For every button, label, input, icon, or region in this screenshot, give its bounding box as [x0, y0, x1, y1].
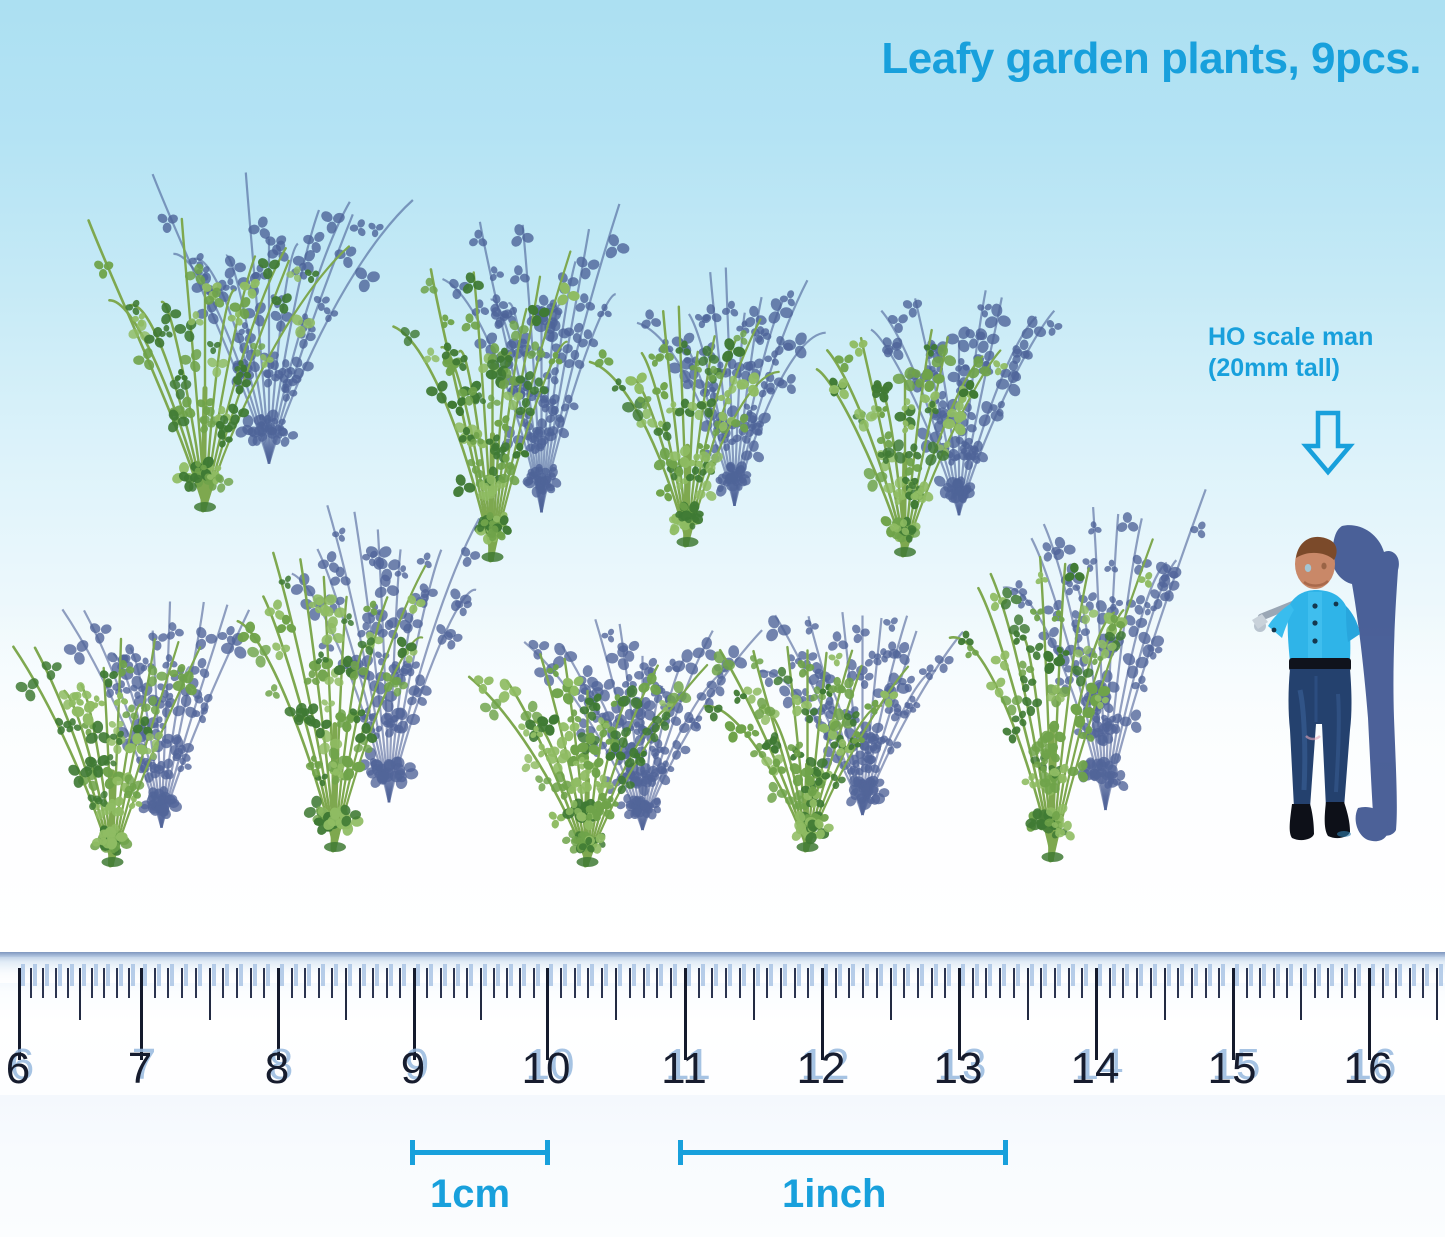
scale-callout-line1: HO scale man — [1208, 323, 1373, 351]
scale-bar-line — [410, 1150, 550, 1155]
ruler-tick-mm — [1122, 968, 1124, 998]
ruler-tick-highlight — [212, 964, 216, 986]
ruler-tick-highlight — [1412, 964, 1416, 986]
ruler-tick-mm — [399, 968, 401, 998]
plant-bottom-2 — [230, 520, 440, 850]
ruler-tick-highlight — [1180, 964, 1184, 986]
ruler-tick-highlight — [961, 964, 965, 986]
ruler-tick-highlight — [646, 964, 650, 986]
ruler-tick-mm — [195, 968, 197, 998]
ruler-tick-mm — [848, 968, 850, 998]
ruler-tick-mm — [222, 968, 224, 998]
ruler-label-14: 1414 — [1071, 1044, 1120, 1094]
ruler-tick-mm — [574, 968, 576, 998]
ruler-tick-highlight — [198, 964, 202, 986]
ruler-tick-mm — [1177, 968, 1179, 998]
ruler-tick-highlight — [1043, 964, 1047, 986]
plant-top-1 — [75, 190, 335, 510]
ruler-tick-highlight — [687, 964, 691, 986]
scale-bar-cap-left — [678, 1140, 683, 1165]
ruler-tick-highlight — [549, 964, 553, 986]
ruler-tick-highlight — [157, 964, 161, 986]
ruler-tick-highlight — [906, 964, 910, 986]
ruler-tick-mm — [999, 968, 1001, 998]
scale-bar-cap-right — [1003, 1140, 1008, 1165]
plant-top-3 — [600, 285, 775, 545]
ruler-tick-highlight — [838, 964, 842, 986]
ruler-tick-mm — [1395, 968, 1397, 998]
ruler-label-10: 1010 — [522, 1044, 571, 1094]
ruler-tick-highlight — [810, 964, 814, 986]
ruler-tick-highlight — [920, 964, 924, 986]
ruler-tick-highlight — [1194, 964, 1198, 986]
ruler-tick-mm — [506, 968, 508, 998]
ruler-tick-mm — [440, 968, 442, 998]
ruler-tick-highlight — [865, 964, 869, 986]
ruler-tick-highlight — [170, 964, 174, 986]
ruler-tick-mm — [386, 968, 388, 998]
ruler-tick-mm — [890, 968, 892, 1020]
ruler-tick-mm — [615, 968, 617, 1020]
ruler-tick-highlight — [947, 964, 951, 986]
ruler-label-text: 14 — [1071, 1044, 1120, 1093]
ruler-tick-highlight — [131, 964, 135, 986]
ruler-tick-highlight — [742, 964, 746, 986]
ruler-tick-mm — [766, 968, 768, 998]
ruler-tick-highlight — [280, 964, 284, 986]
ruler-tick-highlight — [1330, 964, 1334, 986]
scale-bar-cap-left — [410, 1140, 415, 1165]
ruler-tick-mm — [372, 968, 374, 998]
plant-bottom-4 — [700, 625, 915, 850]
ruler-tick-mm — [1409, 968, 1411, 998]
ruler-tick-highlight — [1057, 964, 1061, 986]
ruler-tick-highlight — [1303, 964, 1307, 986]
ruler-label-9: 99 — [401, 1044, 425, 1094]
product-headline: Leafy garden plants, 9pcs. — [881, 34, 1421, 84]
ruler-label-11: 1111 — [661, 1044, 707, 1094]
ruler-tick-mm — [1436, 968, 1438, 1020]
ruler-tick-highlight — [1439, 964, 1443, 986]
ruler-tick-mm — [698, 968, 700, 998]
ruler-tick-mm — [304, 968, 306, 998]
ruler-tick-mm — [519, 968, 521, 998]
ruler-tick-mm — [876, 968, 878, 998]
ruler-tick-mm — [1040, 968, 1042, 998]
ruler-tick-highlight — [536, 964, 540, 986]
ruler-tick-mm — [79, 968, 81, 1020]
ruler-tick-mm — [67, 968, 69, 998]
ruler-tick-mm — [1109, 968, 1111, 998]
ruler-tick-mm — [711, 968, 713, 998]
ruler-tick-mm — [601, 968, 603, 998]
ruler-label-15: 1515 — [1208, 1044, 1257, 1094]
ruler-tick-mm — [985, 968, 987, 998]
plant-top-2 — [400, 230, 585, 560]
ruler-tick-highlight — [604, 964, 608, 986]
ruler-tick-mm — [1068, 968, 1070, 998]
scale-bar-label-1inch: 1inch — [782, 1172, 886, 1217]
ruler-tick-highlight — [632, 964, 636, 986]
ruler-tick-highlight — [577, 964, 581, 986]
ruler-label-text: 15 — [1208, 1044, 1257, 1093]
ruler-tick-mm — [1354, 968, 1356, 998]
scale-bar-1inch — [678, 1140, 1008, 1164]
ruler-tick-highlight — [429, 964, 433, 986]
ruler-tick-mm — [42, 968, 44, 998]
ruler-tick-mm — [466, 968, 468, 998]
ruler-tick-highlight — [469, 964, 473, 986]
ruler-tick-highlight — [184, 964, 188, 986]
ruler-tick-mm — [1300, 968, 1302, 1020]
plant-bottom-5 — [950, 510, 1155, 860]
ruler-tick-highlight — [33, 964, 37, 986]
ruler-tick-highlight — [321, 964, 325, 986]
ruler-tick-mm — [318, 968, 320, 998]
ruler-tick-highlight — [563, 964, 567, 986]
ruler-tick-mm — [560, 968, 562, 998]
ruler-tick-mm — [1382, 968, 1384, 998]
ruler-tick-mm — [835, 968, 837, 998]
ruler-tick-highlight — [1235, 964, 1239, 986]
ruler-label-text: 8 — [265, 1044, 289, 1093]
ruler-tick-highlight — [1084, 964, 1088, 986]
ruler-label-text: 6 — [6, 1044, 30, 1093]
ruler-tick-mm — [1259, 968, 1261, 998]
ruler-tick-highlight — [1221, 964, 1225, 986]
ruler-tick-mm — [55, 968, 57, 998]
ruler-tick-mm — [794, 968, 796, 998]
plant-bottom-1 — [20, 620, 205, 865]
ruler-tick-mm — [862, 968, 864, 998]
ruler-tick-highlight — [934, 964, 938, 986]
ruler-tick-mm — [331, 968, 333, 998]
ruler-tick-highlight — [94, 964, 98, 986]
ruler-label-12: 1212 — [797, 1044, 846, 1094]
ruler-tick-mm — [291, 968, 293, 998]
ruler-tick-highlight — [375, 964, 379, 986]
ruler-tick-highlight — [1249, 964, 1253, 986]
ruler-tick-mm — [359, 968, 361, 998]
ruler-tick-mm — [1314, 968, 1316, 998]
ruler-tick-mm — [1422, 968, 1424, 998]
photo-paper-surface-lower — [0, 1095, 1445, 1237]
ruler-label-text: 7 — [128, 1044, 152, 1093]
ruler-tick-highlight — [1002, 964, 1006, 986]
ruler-tick-mm — [656, 968, 658, 998]
ruler-tick-mm — [670, 968, 672, 998]
ruler-tick-highlight — [1098, 964, 1102, 986]
ruler-tick-mm — [917, 968, 919, 998]
ruler-label-8: 88 — [265, 1044, 289, 1094]
ruler-tick-mm — [1164, 968, 1166, 1020]
ruler-tick-highlight — [348, 964, 352, 986]
ruler-tick-highlight — [21, 964, 25, 986]
ruler-tick-mm — [944, 968, 946, 998]
ruler-tick-highlight — [496, 964, 500, 986]
ruler-tick-highlight — [106, 964, 110, 986]
ruler-tick-highlight — [239, 964, 243, 986]
ruler-label-text: 10 — [522, 1044, 571, 1093]
ruler-tick-highlight — [294, 964, 298, 986]
ruler-tick-highlight — [416, 964, 420, 986]
ruler-tick-mm — [493, 968, 495, 998]
ruler-tick-highlight — [1398, 964, 1402, 986]
ruler-tick-mm — [236, 968, 238, 998]
ruler-tick-highlight — [307, 964, 311, 986]
ruler-tick-mm — [807, 968, 809, 998]
ruler-tick-mm — [1150, 968, 1152, 998]
ruler-tick-mm — [587, 968, 589, 998]
ruler-label-text: 11 — [661, 1044, 707, 1093]
ruler-tick-mm — [250, 968, 252, 998]
ruler-tick-mm — [167, 968, 169, 998]
ruler-tick-highlight — [975, 964, 979, 986]
ruler-tick-mm — [263, 968, 265, 998]
ruler-tick-mm — [1218, 968, 1220, 998]
ruler-tick-mm — [1286, 968, 1288, 998]
scale-bar-1cm — [410, 1140, 550, 1164]
ruler-tick-highlight — [443, 964, 447, 986]
ruler-tick-highlight — [824, 964, 828, 986]
ruler-tick-highlight — [1208, 964, 1212, 986]
ruler-tick-mm — [1273, 968, 1275, 998]
ruler-tick-highlight — [1016, 964, 1020, 986]
ruler-tick-mm — [1054, 968, 1056, 998]
ho-scale-figure — [1246, 508, 1416, 853]
ruler-tick-highlight — [879, 964, 883, 986]
ruler-tick-highlight — [714, 964, 718, 986]
ruler-label-text: 9 — [401, 1044, 425, 1093]
ruler-tick-mm — [753, 968, 755, 1020]
ruler-tick-highlight — [1139, 964, 1143, 986]
ruler-tick-highlight — [783, 964, 787, 986]
ruler-tick-mm — [480, 968, 482, 1020]
scale-bar-label-1cm: 1cm — [430, 1172, 510, 1217]
ruler-tick-highlight — [1167, 964, 1171, 986]
ruler-tick-highlight — [225, 964, 229, 986]
ruler-tick-mm — [1246, 968, 1248, 998]
ruler-tick-highlight — [1112, 964, 1116, 986]
ruler-tick-highlight — [1153, 964, 1157, 986]
arrow-down-outline-icon — [1300, 410, 1356, 476]
ruler-tick-mm — [629, 968, 631, 998]
ruler-tick-mm — [426, 968, 428, 998]
ruler-label-text: 16 — [1344, 1044, 1393, 1093]
ruler-tick-highlight — [483, 964, 487, 986]
ruler-tick-mm — [1136, 968, 1138, 998]
ruler-tick-highlight — [1276, 964, 1280, 986]
ruler-tick-mm — [903, 968, 905, 998]
ruler-tick-highlight — [58, 964, 62, 986]
plant-bottom-3 — [480, 640, 695, 865]
ruler-tick-highlight — [769, 964, 773, 986]
ruler-tick-highlight — [456, 964, 460, 986]
ruler-tick-highlight — [119, 964, 123, 986]
ruler-sheen — [0, 957, 1445, 983]
ruler-label-text: 13 — [934, 1044, 983, 1093]
ruler-tick-highlight — [1425, 964, 1429, 986]
ruler-tick-mm — [931, 968, 933, 998]
ruler-tick-mm — [103, 968, 105, 998]
ruler-tick-highlight — [82, 964, 86, 986]
ruler-label-6: 66 — [6, 1044, 30, 1094]
ruler-tick-highlight — [797, 964, 801, 986]
ruler-tick-highlight — [1317, 964, 1321, 986]
ruler-label-7: 77 — [128, 1044, 152, 1094]
ruler-tick-highlight — [362, 964, 366, 986]
scale-callout: HO scale man (20mm tall) — [1208, 322, 1428, 383]
ruler-tick-highlight — [509, 964, 513, 986]
ruler-tick-highlight — [728, 964, 732, 986]
ruler-tick-highlight — [1371, 964, 1375, 986]
ruler-tick-mm — [154, 968, 156, 998]
ruler-tick-highlight — [659, 964, 663, 986]
ruler-tick-mm — [453, 968, 455, 998]
ruler-tick-mm — [780, 968, 782, 998]
ruler-tick-highlight — [988, 964, 992, 986]
ruler-tick-highlight — [253, 964, 257, 986]
ruler-tick-highlight — [402, 964, 406, 986]
ruler-tick-highlight — [851, 964, 855, 986]
ruler-label-13: 1313 — [934, 1044, 983, 1094]
product-photo: Leafy garden plants, 9pcs. HO scale man … — [0, 0, 1445, 1237]
ruler-tick-mm — [533, 968, 535, 998]
ruler-tick-highlight — [590, 964, 594, 986]
ruler-tick-mm — [1191, 968, 1193, 998]
ruler-label-16: 1616 — [1344, 1044, 1393, 1094]
ruler-tick-highlight — [389, 964, 393, 986]
scale-callout-line2: (20mm tall) — [1208, 353, 1428, 384]
ruler-tick-mm — [739, 968, 741, 998]
ruler-tick-mm — [1013, 968, 1015, 998]
ruler-tick-highlight — [673, 964, 677, 986]
ruler-tick-mm — [91, 968, 93, 998]
ruler-tick-highlight — [522, 964, 526, 986]
ruler-tick-mm — [725, 968, 727, 998]
ruler-tick-highlight — [1344, 964, 1348, 986]
ruler-tick-highlight — [70, 964, 74, 986]
ruler-tick-highlight — [334, 964, 338, 986]
ruler-label-text: 12 — [797, 1044, 846, 1093]
ruler-tick-highlight — [701, 964, 705, 986]
ruler-tick-highlight — [1357, 964, 1361, 986]
ruler-tick-highlight — [1289, 964, 1293, 986]
ruler-tick-mm — [1327, 968, 1329, 998]
ruler-tick-mm — [1027, 968, 1029, 1020]
ruler-tick-highlight — [266, 964, 270, 986]
ruler-tick-mm — [30, 968, 32, 998]
ruler-tick-mm — [1341, 968, 1343, 998]
ruler-tick-highlight — [756, 964, 760, 986]
ruler-tick-highlight — [1262, 964, 1266, 986]
scale-bar-line — [678, 1150, 1008, 1155]
ruler-tick-mm — [1205, 968, 1207, 998]
ruler-tick-mm — [181, 968, 183, 998]
ruler-tick-highlight — [893, 964, 897, 986]
ruler-tick-highlight — [1071, 964, 1075, 986]
ruler-tick-mm — [128, 968, 130, 998]
ruler-tick-mm — [643, 968, 645, 998]
scale-bar-cap-right — [545, 1140, 550, 1165]
ruler-tick-highlight — [618, 964, 622, 986]
ruler-tick-highlight — [45, 964, 49, 986]
ruler-tick-highlight — [1385, 964, 1389, 986]
ruler-tick-highlight — [1030, 964, 1034, 986]
ruler-tick-highlight — [143, 964, 147, 986]
ruler-tick-highlight — [1125, 964, 1129, 986]
ruler-tick-mm — [1081, 968, 1083, 998]
ruler-tick-mm — [209, 968, 211, 1020]
ruler-tick-mm — [345, 968, 347, 1020]
ruler-tick-mm — [972, 968, 974, 998]
ruler-tick-mm — [116, 968, 118, 998]
